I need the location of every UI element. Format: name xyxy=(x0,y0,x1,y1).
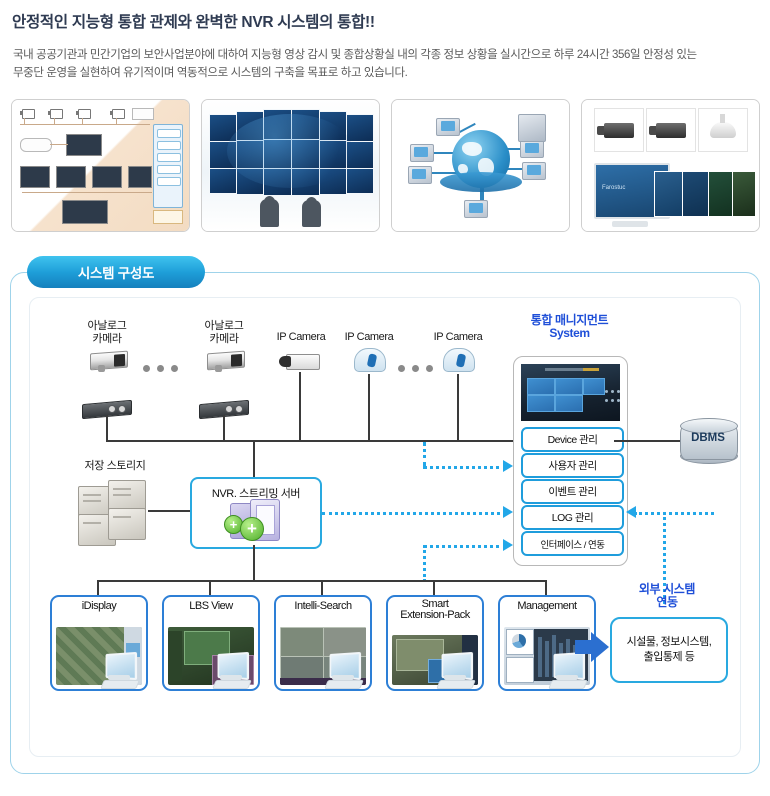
mgmt-button-device[interactable]: Device 관리 xyxy=(521,427,624,452)
external-system-label: 외부 시스템연동 xyxy=(608,583,726,609)
line-storage-to-nvr xyxy=(148,510,190,512)
arrow-into-mgmt-upper xyxy=(503,460,513,472)
mgmt-system-title: 통합 매니지먼트System xyxy=(498,314,641,340)
management-system-panel: Device 관리 사용자 관리 이벤트 관리 LOG 관리 인터페이스 / 연… xyxy=(513,356,628,566)
line-analog1-drop xyxy=(106,415,108,441)
analog-camera-icon-1 xyxy=(86,352,130,372)
arrow-into-mgmt-lower xyxy=(503,539,513,551)
arrow-into-mgmt-from-external xyxy=(626,506,636,518)
mgmt-button-interface[interactable]: 인터페이스 / 연동 xyxy=(521,531,624,556)
encoder-icon-2 xyxy=(199,400,251,418)
dome-camera-icon-2 xyxy=(443,348,473,374)
pc-icon-idisplay xyxy=(102,653,142,689)
photo-strip: Farostuc xyxy=(11,99,761,231)
camera-label-analog-1: 아날로그카메라 xyxy=(68,320,146,346)
external-arrow-icon xyxy=(575,632,609,662)
module-card-idisplay[interactable]: iDisplay xyxy=(50,595,148,691)
pc-icon-smartextension xyxy=(438,653,478,689)
external-box-line-1: 시설물, 정보시스템, xyxy=(627,636,712,648)
line-ip1-drop xyxy=(299,372,301,441)
section-tab: 시스템 구성도 xyxy=(27,256,205,288)
dotline-h-lower xyxy=(423,545,507,548)
external-system-box: 시설물, 정보시스템, 출입통제 등 xyxy=(610,617,728,683)
dotline-v-upper xyxy=(423,442,426,466)
nvr-streaming-server-box: NVR. 스트리밍 서버 + + xyxy=(190,477,322,549)
mgmt-button-user[interactable]: 사용자 관리 xyxy=(521,453,624,478)
section-title: 시스템 구성도 xyxy=(78,262,154,282)
storage-icon xyxy=(78,480,154,552)
module-title-management: Management xyxy=(500,600,594,612)
storage-label: 저장 스토리지 xyxy=(60,460,170,473)
analog-camera-icon-2 xyxy=(203,352,247,372)
dotline-h-middle xyxy=(322,512,507,515)
management-screen-preview xyxy=(521,364,620,421)
arrow-into-mgmt-middle xyxy=(503,506,513,518)
camera-products-photo: Farostuc xyxy=(581,99,760,232)
line-drop-mod4 xyxy=(433,580,435,596)
page-title: 안정적인 지능형 통합 관제와 완벽한 NVR 시스템의 통합!! xyxy=(12,10,375,32)
module-title-idisplay: iDisplay xyxy=(52,600,146,612)
mgmt-button-event[interactable]: 이벤트 관리 xyxy=(521,479,624,504)
ellipsis-analog xyxy=(143,365,178,372)
encoder-icon-1 xyxy=(82,400,134,418)
module-card-smartextension[interactable]: SmartExtension-Pack xyxy=(386,595,484,691)
external-box-line-2: 출입통제 등 xyxy=(644,651,695,663)
page-description: 국내 공공기관과 민간기업의 보안사업분야에 대하여 지능형 영상 감시 및 종… xyxy=(13,46,761,82)
plus-badge-large: + xyxy=(240,517,264,541)
camera-label-analog-2: 아날로그카메라 xyxy=(185,320,263,346)
line-bus-to-nvr xyxy=(253,440,255,478)
dome-camera-icon-1 xyxy=(354,348,384,374)
line-mgmt-to-dbms xyxy=(614,440,680,442)
line-drop-mod3 xyxy=(321,580,323,596)
line-ip3-drop xyxy=(457,374,459,441)
camera-label-ip-2: IP Camera xyxy=(334,331,404,344)
mgmt-button-log[interactable]: LOG 관리 xyxy=(521,505,624,530)
module-card-intellisearch[interactable]: Intelli-Search xyxy=(274,595,372,691)
description-line-2: 무중단 운영을 실현하여 유기적이며 역동적으로 시스템의 구축을 목표로 하고… xyxy=(13,64,761,82)
line-drop-mod5 xyxy=(545,580,547,596)
dotline-v-lower xyxy=(423,545,426,582)
global-network-photo xyxy=(391,99,570,232)
description-line-1: 국내 공공기관과 민간기업의 보안사업분야에 대하여 지능형 영상 감시 및 종… xyxy=(13,46,761,64)
line-drop-mod1 xyxy=(97,580,99,596)
line-ip2-drop xyxy=(368,374,370,441)
module-title-lbsview: LBS View xyxy=(164,600,258,612)
ellipsis-ip xyxy=(398,365,433,372)
pc-icon-lbsview xyxy=(214,653,254,689)
line-analog2-drop xyxy=(223,415,225,441)
line-nvr-to-modulebus xyxy=(253,545,255,582)
camera-label-ip-1: IP Camera xyxy=(266,331,336,344)
ip-box-camera-icon xyxy=(280,352,322,376)
dbms-icon: DBMS xyxy=(680,418,736,464)
pc-icon-intellisearch xyxy=(326,653,366,689)
line-drop-mod2 xyxy=(209,580,211,596)
control-room-video-wall-photo xyxy=(201,99,380,232)
page-root: 안정적인 지능형 통합 관제와 완벽한 NVR 시스템의 통합!! 국내 공공기… xyxy=(0,0,770,796)
module-title-intellisearch: Intelli-Search xyxy=(276,600,370,612)
module-title-smartextension: SmartExtension-Pack xyxy=(388,599,482,621)
camera-label-ip-3: IP Camera xyxy=(423,331,493,344)
dotline-h-external-top xyxy=(634,512,714,515)
dotline-h-upper xyxy=(423,466,507,469)
system-schematic-photo xyxy=(11,99,190,232)
dbms-label: DBMS xyxy=(680,432,736,444)
module-card-lbsview[interactable]: LBS View xyxy=(162,595,260,691)
